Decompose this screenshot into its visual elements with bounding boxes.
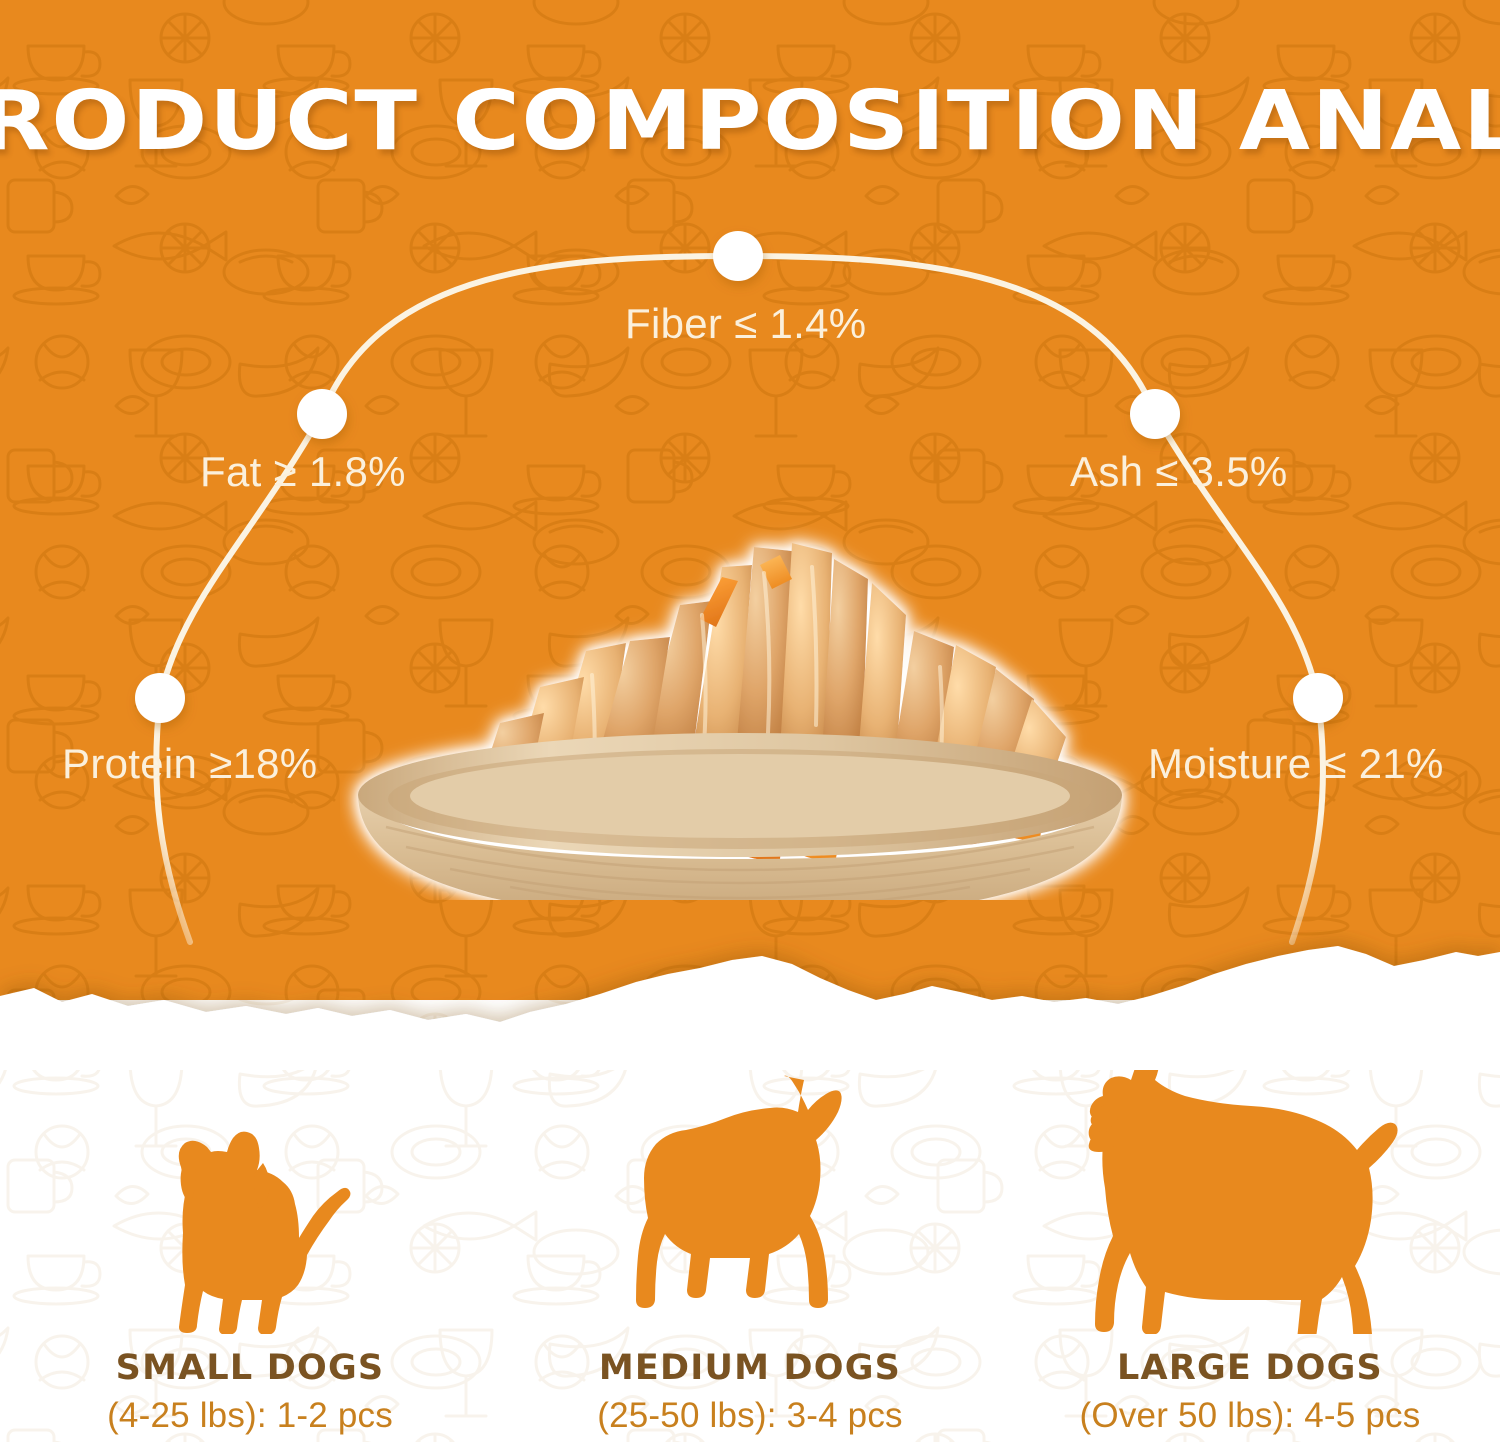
feeding-guide-large: LARGE DOGS (Over 50 lbs): 4-5 pcs bbox=[1000, 1000, 1500, 1442]
small-dog-silhouette bbox=[145, 1119, 355, 1334]
nutrient-label-ash: Ash ≤ 3.5% bbox=[1070, 448, 1288, 496]
small-dog-subtitle: (4-25 lbs): 1-2 pcs bbox=[107, 1396, 393, 1436]
nutrient-label-fat: Fat ≥ 1.8% bbox=[200, 448, 406, 496]
feeding-guide-medium: MEDIUM DOGS (25-50 lbs): 3-4 pcs bbox=[500, 1000, 1000, 1442]
feeding-guide-panel: SMALL DOGS (4-25 lbs): 1-2 pcs MEDIUM DO… bbox=[0, 1000, 1500, 1442]
large-dog-silhouette bbox=[1085, 1058, 1415, 1334]
dog-size-row: SMALL DOGS (4-25 lbs): 1-2 pcs MEDIUM DO… bbox=[0, 1000, 1500, 1442]
wooden-bowl bbox=[358, 733, 1122, 900]
small-dog-art bbox=[145, 1034, 355, 1334]
large-dog-subtitle: (Over 50 lbs): 4-5 pcs bbox=[1080, 1396, 1421, 1436]
medium-dog-title: MEDIUM DOGS bbox=[599, 1348, 901, 1388]
orange-background-panel: PRODUCT COMPOSITION ANALYSIS bbox=[0, 0, 1500, 1010]
large-dog-title: LARGE DOGS bbox=[1117, 1348, 1383, 1388]
feeding-guide-small: SMALL DOGS (4-25 lbs): 1-2 pcs bbox=[0, 1000, 500, 1442]
page-title: PRODUCT COMPOSITION ANALYSIS bbox=[0, 74, 1500, 169]
nutrient-label-moisture: Moisture ≤ 21% bbox=[1148, 740, 1444, 788]
nutrient-label-fiber: Fiber ≤ 1.4% bbox=[625, 300, 866, 348]
product-photo-treats-in-bowl bbox=[340, 455, 1140, 900]
medium-dog-subtitle: (25-50 lbs): 3-4 pcs bbox=[597, 1396, 903, 1436]
nutrient-label-protein: Protein ≥18% bbox=[62, 740, 317, 788]
medium-dog-silhouette bbox=[626, 1072, 874, 1334]
large-dog-art bbox=[1085, 1034, 1415, 1334]
product-composition-infographic: PRODUCT COMPOSITION ANALYSIS bbox=[0, 0, 1500, 1442]
small-dog-title: SMALL DOGS bbox=[116, 1348, 385, 1388]
medium-dog-art bbox=[626, 1034, 874, 1334]
